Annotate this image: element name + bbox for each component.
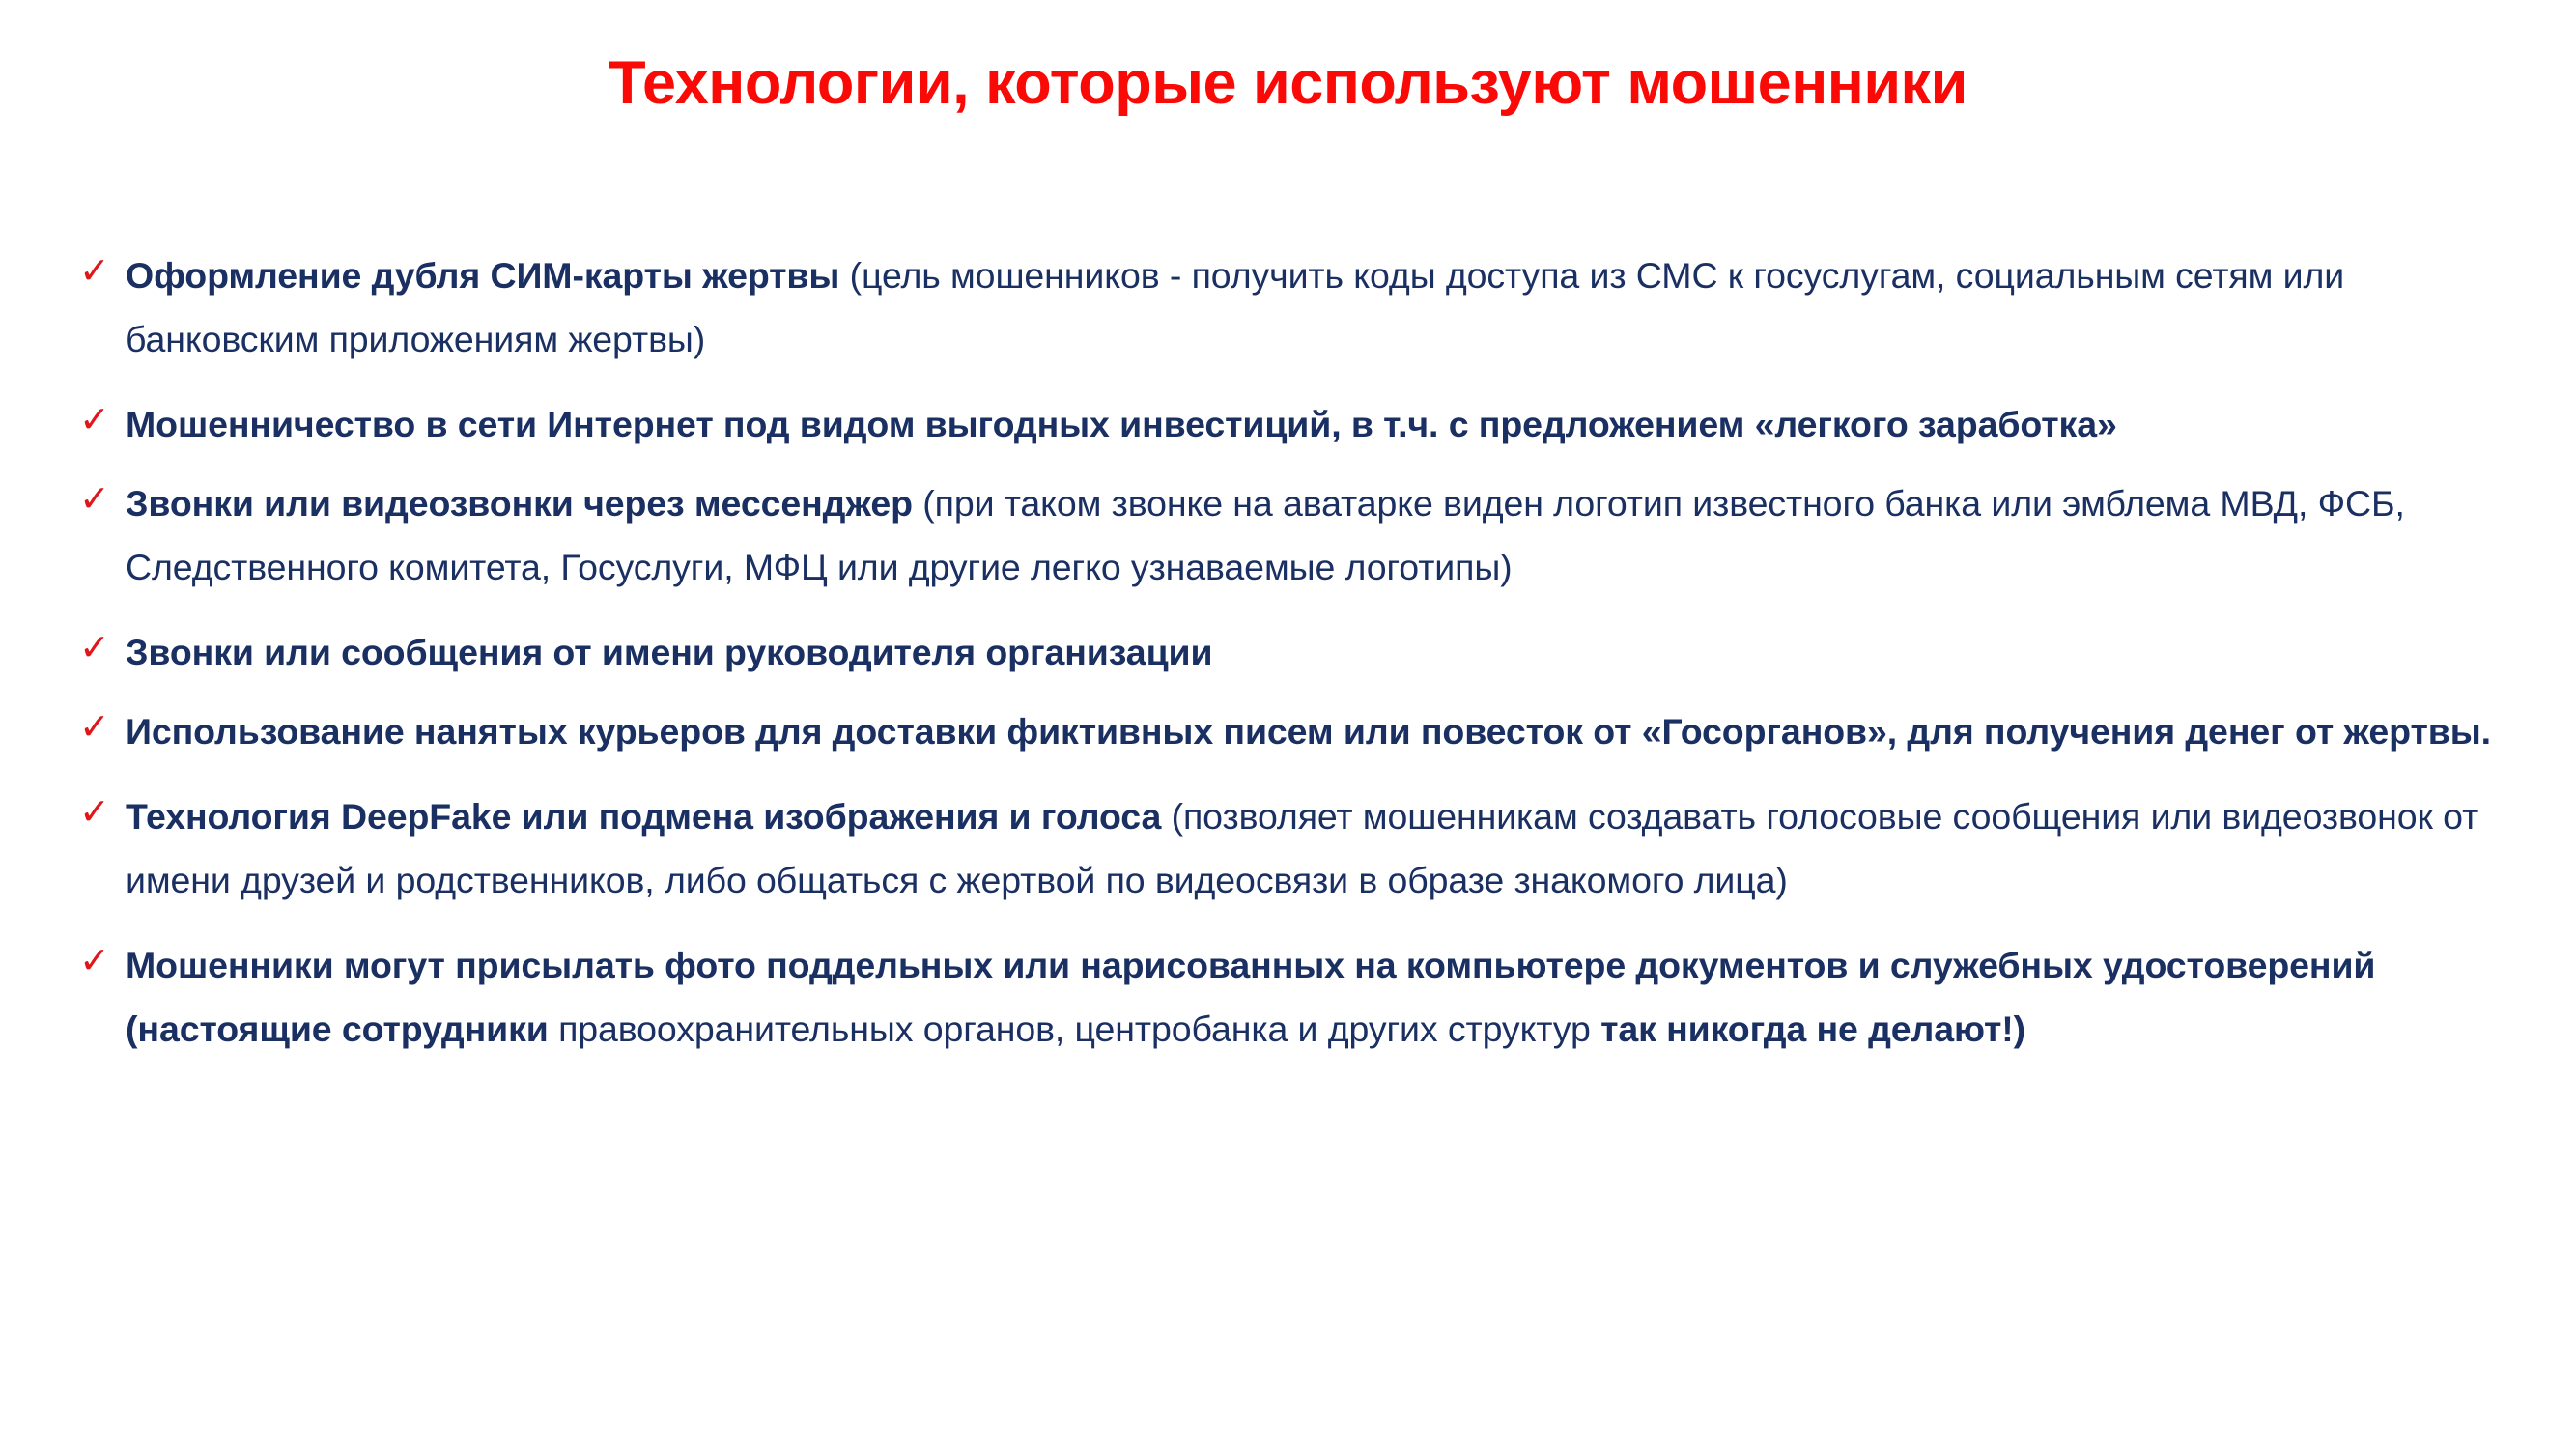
list-item-bold-lead: Мошенничество в сети Интернет под видом … [126, 404, 2117, 444]
list-item-text: Использование нанятых курьеров для доста… [126, 699, 2519, 763]
checkmark-icon: ✓ [75, 620, 126, 674]
list-item-text: Мошенничество в сети Интернет под видом … [126, 392, 2519, 456]
checkmark-icon: ✓ [75, 699, 126, 753]
list-item-text: Технология DeepFake или подмена изображе… [126, 784, 2519, 912]
list-item: ✓ Звонки или видеозвонки через мессендже… [75, 471, 2519, 599]
list-item: ✓ Технология DeepFake или подмена изобра… [75, 784, 2519, 912]
list-item: ✓ Оформление дубля СИМ-карты жертвы (цел… [75, 243, 2519, 371]
list-item-bold-lead: Технология DeepFake или подмена изображе… [126, 796, 1172, 837]
list-item: ✓ Звонки или сообщения от имени руководи… [75, 620, 2519, 684]
list-item: ✓ Мошенничество в сети Интернет под видо… [75, 392, 2519, 456]
list-item: ✓ Использование нанятых курьеров для дос… [75, 699, 2519, 763]
list-item-text: Звонки или сообщения от имени руководите… [126, 620, 2519, 684]
list-item-bold-lead: Звонки или сообщения от имени руководите… [126, 632, 1212, 672]
checkmark-icon: ✓ [75, 933, 126, 987]
list-item-bold-lead: Звонки или видеозвонки через мессенджер [126, 483, 922, 524]
checkmark-icon: ✓ [75, 243, 126, 298]
list-item-bold-lead: Оформление дубля СИМ-карты жертвы [126, 255, 850, 296]
list-item: ✓ Мошенники могут присылать фото поддель… [75, 933, 2519, 1061]
checkmark-icon: ✓ [75, 784, 126, 838]
page-title: Технологии, которые используют мошенники [0, 50, 2576, 117]
list-item-text: Звонки или видеозвонки через мессенджер … [126, 471, 2519, 599]
list-item-bold-lead: Использование нанятых курьеров для доста… [126, 711, 2491, 752]
list-item-bold-end: так никогда не делают!) [1600, 1009, 2025, 1049]
slide-canvas: Технологии, которые используют мошенники… [0, 0, 2576, 1449]
checkmark-icon: ✓ [75, 392, 126, 446]
list-item-text: Мошенники могут присылать фото поддельны… [126, 933, 2519, 1061]
checkmark-icon: ✓ [75, 471, 126, 526]
bullet-list: ✓ Оформление дубля СИМ-карты жертвы (цел… [75, 243, 2519, 1082]
list-item-regular-tail: правоохранительных органов, центробанка … [558, 1009, 1600, 1049]
list-item-text: Оформление дубля СИМ-карты жертвы (цель … [126, 243, 2519, 371]
